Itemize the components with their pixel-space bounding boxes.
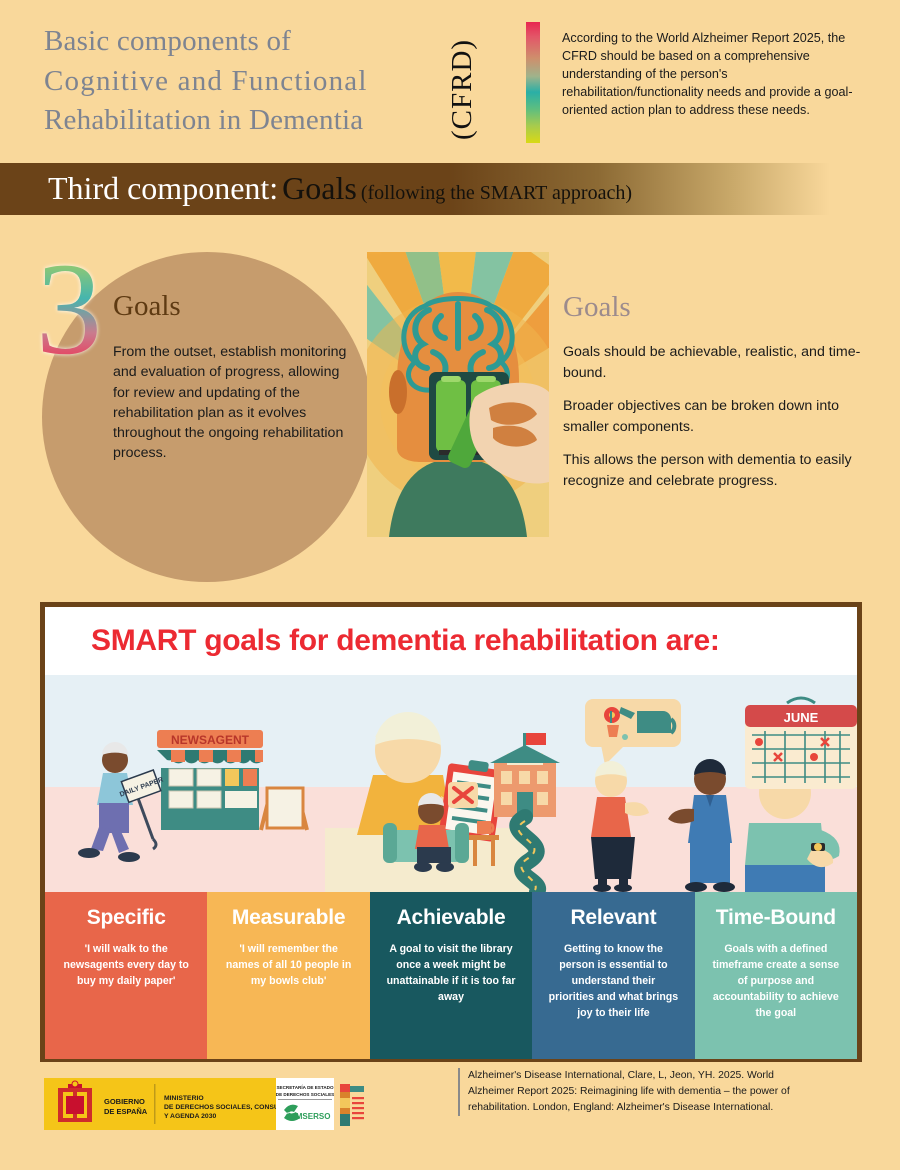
citation-text: Alzheimer's Disease International, Clare… [458,1068,803,1116]
cfrd-acronym: (CFRD) [446,20,479,140]
smart-column-specific[interactable]: Specific 'I will walk to the newsagents … [45,892,207,1059]
smart-column-relevant[interactable]: Relevant Getting to know the person is e… [532,892,694,1059]
page-title: Basic components of Cognitive and Functi… [44,22,444,141]
smart-label-time-bound: Time-Bound [705,906,847,930]
right-goals-paragraph-2: Broader objectives can be broken down in… [563,396,865,437]
smart-label-specific: Specific [55,906,197,930]
header: Basic components of Cognitive and Functi… [0,0,900,155]
component-number: 3 [36,243,102,375]
band-keyword: Goals [282,170,357,206]
logo-gobierno-line2: DE ESPAÑA [104,1107,148,1116]
page-title-line-3: Rehabilitation in Dementia [44,101,444,141]
right-goals-paragraphs: Goals should be achievable, realistic, a… [563,342,865,505]
smart-desc-specific: 'I will walk to the newsagents every day… [55,941,197,989]
page-title-line-1: Basic components of [44,22,444,62]
smart-column-achievable[interactable]: Achievable A goal to visit the library o… [370,892,532,1059]
left-goals-text: From the outset, establish monitoring an… [113,342,351,464]
logo-imserso-name: IMSERSO [294,1112,331,1121]
section-band-text: Third component: Goals (following the SM… [48,170,848,207]
smart-scene-svg: NEWSAGENT [45,675,857,892]
smart-column-time-bound[interactable]: Time-Bound Goals with a defined timefram… [695,892,857,1059]
smart-goals-panel: SMART goals for dementia rehabilitation … [40,602,862,1062]
smart-panel-title: SMART goals for dementia rehabilitation … [45,607,857,675]
smart-label-measurable: Measurable [217,906,359,930]
logo-ministerio-line2: DE DERECHOS SOCIALES, CONSUMO [164,1104,290,1111]
logo-imserso-line2: DE DERECHOS SOCIALES [276,1092,334,1097]
right-goals-paragraph-3: This allows the person with dementia to … [563,450,865,491]
logo-gobierno-line1: GOBIERNO [104,1097,145,1106]
svg-text:JUNE: JUNE [784,710,819,725]
smart-desc-measurable: 'I will remember the names of all 10 peo… [217,941,359,989]
smart-desc-relevant: Getting to know the person is essential … [542,941,684,1021]
cre-alzheimer-logo-icon [340,1084,364,1126]
smart-desc-time-bound: Goals with a defined timeframe create a … [705,941,847,1021]
brain-battery-illustration [367,252,549,537]
smart-label-achievable: Achievable [380,906,522,930]
footer-logos: GOBIERNO DE ESPAÑA MINISTERIO DE DERECHO… [44,1078,364,1136]
gradient-accent-bar [526,22,540,143]
page-title-line-2: Cognitive and Functional [44,62,444,102]
smart-column-measurable[interactable]: Measurable 'I will remember the names of… [207,892,369,1059]
right-goals-paragraph-1: Goals should be achievable, realistic, a… [563,342,865,383]
left-goals-heading: Goals [113,290,181,323]
logo-ministerio-line1: MINISTERIO [164,1095,204,1102]
smart-columns: Specific 'I will walk to the newsagents … [45,892,857,1059]
svg-text:NEWSAGENT: NEWSAGENT [171,733,250,747]
brain-battery-svg [367,252,549,537]
smart-scene-illustration: NEWSAGENT [45,675,857,892]
smart-label-relevant: Relevant [542,906,684,930]
logo-imserso-line1: SECRETARÍA DE ESTADO [276,1083,334,1090]
band-suffix: (following the SMART approach) [361,182,632,204]
band-prefix: Third component: [48,170,278,206]
footer-logos-svg: GOBIERNO DE ESPAÑA MINISTERIO DE DERECHO… [44,1078,364,1136]
header-note-text: According to the World Alzheimer Report … [562,30,862,119]
right-goals-heading: Goals [563,291,631,324]
infographic-page: Basic components of Cognitive and Functi… [0,0,900,1170]
smart-desc-achievable: A goal to visit the library once a week … [380,941,522,1005]
logo-ministerio-line3: Y AGENDA 2030 [164,1113,216,1120]
